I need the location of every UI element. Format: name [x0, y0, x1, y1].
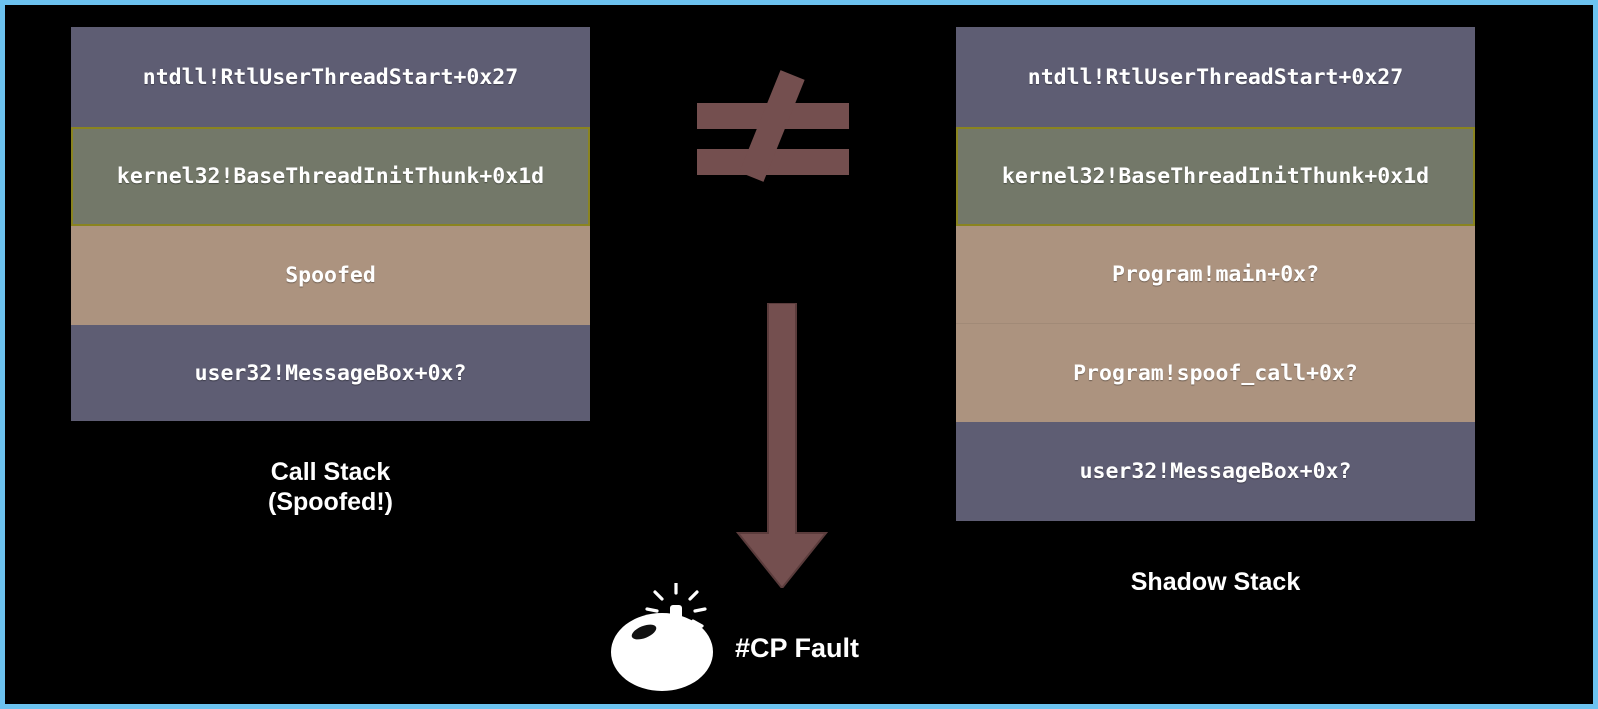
bomb-body [611, 613, 713, 691]
bomb-icon [607, 583, 725, 691]
call-stack-caption: Call Stack (Spoofed!) [71, 457, 590, 517]
call-stack-frame-user32: user32!MessageBox+0x? [71, 325, 590, 421]
down-arrow-shape [738, 303, 826, 588]
call-stack-frame-spoofed: Spoofed [71, 226, 590, 325]
shadow-stack-frame-kernel32: kernel32!BaseThreadInitThunk+0x1d [956, 127, 1475, 226]
call-stack-frame-ntdll: ntdll!RtlUserThreadStart+0x27 [71, 27, 590, 127]
call-stack-column: ntdll!RtlUserThreadStart+0x27 kernel32!B… [71, 27, 590, 421]
shadow-stack-frame-ntdll: ntdll!RtlUserThreadStart+0x27 [956, 27, 1475, 127]
shadow-stack-caption: Shadow Stack [956, 567, 1475, 597]
down-arrow-icon [730, 303, 834, 588]
shadow-stack-column: ntdll!RtlUserThreadStart+0x27 kernel32!B… [956, 27, 1475, 521]
shadow-stack-frame-program-spoof-call: Program!spoof_call+0x? [956, 324, 1475, 422]
not-equal-icon [693, 69, 853, 179]
shadow-stack-frame-user32: user32!MessageBox+0x? [956, 422, 1475, 521]
shadow-stack-frame-program-main: Program!main+0x? [956, 226, 1475, 324]
diagram-canvas: ntdll!RtlUserThreadStart+0x27 kernel32!B… [0, 0, 1598, 709]
cp-fault-label: #CP Fault [735, 633, 859, 664]
call-stack-frame-kernel32: kernel32!BaseThreadInitThunk+0x1d [71, 127, 590, 226]
